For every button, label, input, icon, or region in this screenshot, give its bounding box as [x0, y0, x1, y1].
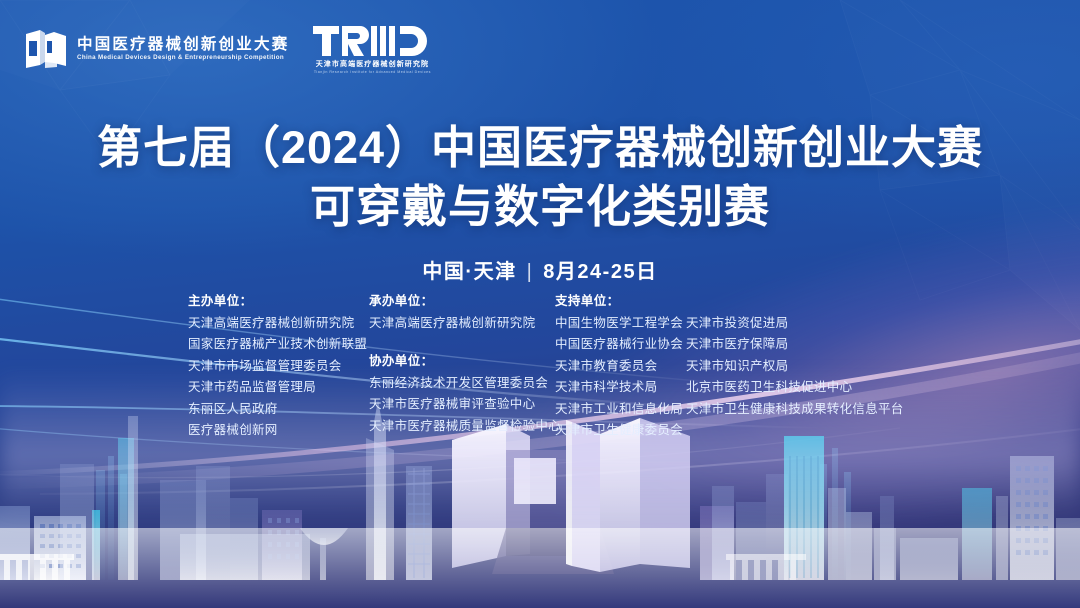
competition-name-en: China Medical Devices Design & Entrepren… [77, 55, 289, 61]
organiser-item: 东丽区人民政府 [188, 399, 369, 421]
organiser-item: 天津市医疗器械质量监督检验中心 [369, 416, 555, 438]
competition-logo: 中国医疗器械创新创业大赛 China Medical Devices Desig… [24, 29, 289, 69]
organiser-item: 中国医疗器械行业协会 [555, 334, 686, 356]
organiser-column-2: 承办单位： 天津高端医疗器械创新研究院 协办单位： 东丽经济技术开发区管理委员会… [369, 291, 555, 437]
main-title-line-1: 第七届（2024）中国医疗器械创新创业大赛 [0, 118, 1080, 177]
organiser-item: 天津市知识产权局 [686, 356, 904, 378]
organiser-group: 承办单位： 天津高端医疗器械创新研究院 [369, 291, 555, 334]
organiser-item: 东丽经济技术开发区管理委员会 [369, 373, 555, 395]
organiser-item: 天津市教育委员会 [555, 356, 686, 378]
triid-wordmark-icon [313, 24, 431, 58]
group-heading: 主办单位： [188, 291, 369, 313]
group-heading: 支持单位： [555, 291, 686, 313]
organiser-item: 天津市医疗器械审评查验中心 [369, 394, 555, 416]
organiser-item: 天津市工业和信息化局 [555, 399, 686, 421]
competition-name-cn: 中国医疗器械创新创业大赛 [77, 37, 289, 53]
organiser-item: 天津高端医疗器械创新研究院 [369, 313, 555, 335]
organiser-group: 天津市投资促进局 天津市医疗保障局 天津市知识产权局 北京市医药卫生科技促进中心… [686, 291, 904, 420]
event-subtitle: 中国·天津|8月24-25日 [0, 255, 1080, 284]
organiser-item: 医疗器械创新网 [188, 420, 369, 442]
organiser-item: 中国生物医学工程学会 [555, 313, 686, 335]
organiser-item: 天津市卫生健康科技成果转化信息平台 [686, 399, 904, 421]
organiser-column-3: 支持单位： 中国生物医学工程学会 中国医疗器械行业协会 天津市教育委员会 天津市… [555, 291, 686, 442]
organiser-item: 天津市卫生健康委员会 [555, 420, 686, 442]
competition-logo-text: 中国医疗器械创新创业大赛 China Medical Devices Desig… [77, 37, 289, 61]
organiser-group: 协办单位： 东丽经济技术开发区管理委员会 天津市医疗器械审评查验中心 天津市医疗… [369, 351, 555, 437]
organiser-item: 国家医疗器械产业技术创新联盟 [188, 334, 369, 356]
organiser-group: 支持单位： 中国生物医学工程学会 中国医疗器械行业协会 天津市教育委员会 天津市… [555, 291, 686, 442]
organiser-item: 天津高端医疗器械创新研究院 [188, 313, 369, 335]
organiser-column-4: 天津市投资促进局 天津市医疗保障局 天津市知识产权局 北京市医药卫生科技促进中心… [686, 291, 904, 420]
group-heading: 承办单位： [369, 291, 555, 313]
open-door-logo-icon [24, 29, 68, 69]
group-heading: 协办单位： [369, 351, 555, 373]
organiser-item: 北京市医药卫生科技促进中心 [686, 377, 904, 399]
organiser-item: 天津市药品监督管理局 [188, 377, 369, 399]
triid-name-cn: 天津市高端医疗器械创新研究院 [316, 61, 429, 68]
poster-canvas: 中国医疗器械创新创业大赛 China Medical Devices Desig… [0, 0, 1080, 608]
main-title-line-2: 可穿戴与数字化类别赛 [0, 177, 1080, 236]
title-block: 第七届（2024）中国医疗器械创新创业大赛 可穿戴与数字化类别赛 中国·天津|8… [0, 118, 1080, 284]
organiser-group: 主办单位： 天津高端医疗器械创新研究院 国家医疗器械产业技术创新联盟 天津市市场… [188, 291, 369, 442]
organiser-columns: 主办单位： 天津高端医疗器械创新研究院 国家医疗器械产业技术创新联盟 天津市市场… [188, 291, 904, 442]
triid-logo: 天津市高端医疗器械创新研究院 Tianjin Research Institut… [313, 24, 431, 75]
column-spacer [686, 291, 904, 313]
triid-name-en: Tianjin Research Institute for Advanced … [314, 71, 431, 75]
event-location: 中国·天津 [422, 261, 516, 283]
organiser-item: 天津市投资促进局 [686, 313, 904, 335]
event-dates: 8月24-25日 [543, 261, 657, 283]
organiser-item: 天津市市场监督管理委员会 [188, 356, 369, 378]
subtitle-separator: | [527, 261, 534, 284]
header-logos: 中国医疗器械创新创业大赛 China Medical Devices Desig… [24, 24, 431, 75]
organiser-item: 天津市科学技术局 [555, 377, 686, 399]
organiser-item: 天津市医疗保障局 [686, 334, 904, 356]
organiser-column-1: 主办单位： 天津高端医疗器械创新研究院 国家医疗器械产业技术创新联盟 天津市市场… [188, 291, 369, 442]
